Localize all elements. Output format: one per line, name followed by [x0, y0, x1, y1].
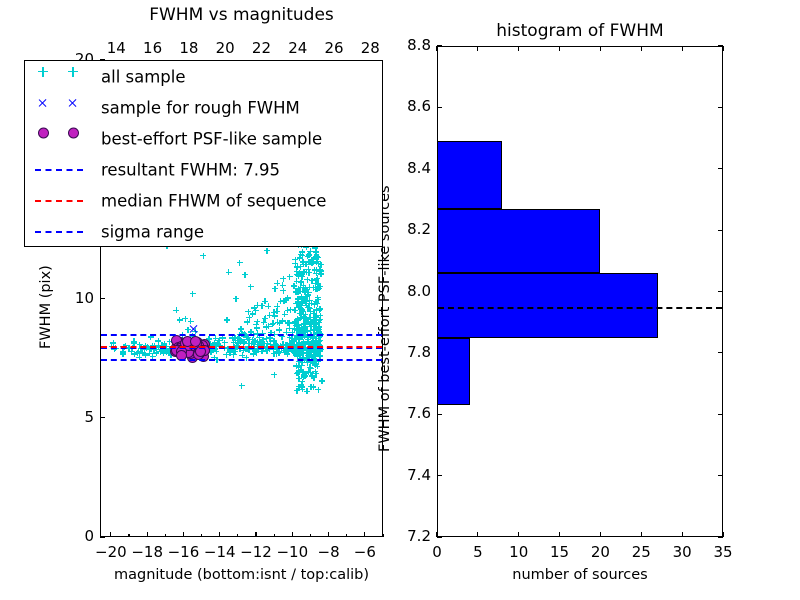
- scatter-point-all: [298, 352, 304, 358]
- scatter-point-all: [312, 350, 318, 356]
- scatter-point-all: [313, 277, 319, 283]
- scatter-point-all: [313, 286, 319, 292]
- scatter-point-all: [173, 307, 179, 313]
- scatter-point-all: [306, 289, 312, 295]
- scatter-point-all: [311, 326, 317, 332]
- scatter-point-all: [314, 336, 320, 342]
- scatter-point-all: [288, 307, 294, 313]
- scatter-point-all: [297, 310, 303, 316]
- scatter-point-all: [315, 261, 321, 267]
- scatter-top-xticklabel: 16: [135, 39, 171, 57]
- scatter-point-all: [307, 308, 313, 314]
- scatter-top-xticklabel: 28: [352, 39, 388, 57]
- scatter-point-all: [310, 338, 316, 344]
- scatter-point-all: [237, 338, 243, 344]
- histogram-xtick: [518, 532, 519, 537]
- histogram-ytick-right: [718, 414, 723, 415]
- histogram-xticklabel: 0: [417, 543, 457, 561]
- scatter-point-all: [304, 388, 310, 394]
- histogram-ytick: [437, 536, 442, 537]
- scatter-yticklabel: 5: [58, 408, 94, 426]
- scatter-point-all: [188, 318, 194, 324]
- scatter-point-all: [305, 369, 311, 375]
- scatter-point-all: [313, 317, 319, 323]
- scatter-top-xticklabel: 24: [280, 39, 316, 57]
- scatter-point-all: [227, 350, 233, 356]
- histogram-xticklabel: 35: [703, 543, 743, 561]
- scatter-point-all: [295, 317, 301, 323]
- scatter-point-all: [315, 297, 321, 303]
- scatter-point-all: [120, 349, 126, 355]
- scatter-point-all: [294, 324, 300, 330]
- scatter-point-all: [286, 325, 292, 331]
- scatter-point-all: [276, 327, 282, 333]
- legend-box: all samplesample for rough FWHMbest-effo…: [24, 60, 383, 247]
- scatter-point-all: [295, 316, 301, 322]
- scatter-point-all: [318, 271, 324, 277]
- scatter-point-all: [298, 280, 304, 286]
- scatter-top-xticklabel: 22: [243, 39, 279, 57]
- legend-item-label: all sample: [101, 67, 186, 86]
- scatter-point-all: [313, 325, 319, 331]
- scatter-point-all: [310, 335, 316, 341]
- scatter-point-all: [307, 365, 313, 371]
- scatter-point-all: [311, 256, 317, 262]
- scatter-point-all: [301, 374, 307, 380]
- scatter-point-all: [250, 311, 256, 317]
- scatter-point-all: [305, 319, 311, 325]
- scatter-point-all: [299, 253, 305, 259]
- scatter-point-all: [293, 323, 299, 329]
- scatter-point-all: [274, 351, 280, 357]
- scatter-point-all: [302, 285, 308, 291]
- scatter-point-all: [285, 295, 291, 301]
- scatter-point-all: [234, 336, 240, 342]
- scatter-point-all: [316, 338, 322, 344]
- scatter-point-all: [297, 270, 303, 276]
- scatter-point-all: [289, 335, 295, 341]
- scatter-point-all: [296, 304, 302, 310]
- scatter-point-all: [283, 349, 289, 355]
- scatter-point-all: [300, 308, 306, 314]
- scatter-point-all: [253, 307, 259, 313]
- histogram-ytick: [437, 45, 442, 46]
- scatter-point-all: [312, 353, 318, 359]
- scatter-point-all: [223, 352, 229, 358]
- scatter-point-all: [315, 281, 321, 287]
- scatter-point-all: [312, 302, 318, 308]
- scatter-point-all: [315, 295, 321, 301]
- scatter-point-all: [263, 324, 269, 330]
- histogram-bar: [437, 209, 600, 273]
- scatter-point-all: [246, 315, 252, 321]
- scatter-point-all: [128, 349, 134, 355]
- scatter-point-all: [292, 320, 298, 326]
- scatter-point-all: [314, 259, 320, 265]
- scatter-point-all: [316, 319, 322, 325]
- scatter-point-all: [182, 316, 188, 322]
- histogram-ytick: [437, 414, 442, 415]
- scatter-point-all: [153, 350, 159, 356]
- scatter-point-all: [308, 300, 314, 306]
- scatter-point-all: [252, 338, 258, 344]
- histogram-bar: [437, 338, 470, 406]
- scatter-point-all: [317, 317, 323, 323]
- scatter-point-all: [307, 353, 313, 359]
- scatter-point-all: [155, 338, 161, 344]
- scatter-point-all: [305, 292, 311, 298]
- dashed-line-icon: [35, 200, 83, 202]
- scatter-point-all: [307, 364, 313, 370]
- legend-item-label: sigma range: [101, 223, 204, 242]
- scatter-point-all: [274, 308, 280, 314]
- scatter-point-all: [298, 271, 304, 277]
- scatter-point-all: [275, 349, 281, 355]
- scatter-point-all: [260, 337, 266, 343]
- legend-item[interactable]: best-effort PSF-like sample: [25, 123, 382, 154]
- scatter-point-all: [313, 307, 319, 313]
- scatter-point-all: [253, 350, 259, 356]
- scatter-point-all: [293, 289, 299, 295]
- scatter-point-all: [314, 363, 320, 369]
- histogram-top-xtick: [436, 46, 437, 51]
- scatter-point-all: [317, 353, 323, 359]
- scatter-point-all: [310, 259, 316, 265]
- scatter-point-all: [177, 317, 183, 323]
- scatter-point-all: [302, 287, 308, 293]
- scatter-point-all: [301, 261, 307, 267]
- scatter-point-all: [254, 339, 260, 345]
- legend-item[interactable]: sigma range: [25, 217, 382, 248]
- scatter-point-all: [293, 336, 299, 342]
- histogram-xlabel: number of sources: [437, 567, 723, 583]
- histogram-title: histogram of FWHM: [397, 21, 763, 41]
- scatter-point-all: [232, 337, 238, 343]
- scatter-ylabel: FWHM (pix): [38, 265, 54, 349]
- scatter-point-all: [258, 339, 264, 345]
- scatter-point-all: [301, 269, 307, 275]
- scatter-point-all: [292, 261, 298, 267]
- scatter-point-all: [143, 352, 149, 358]
- scatter-point-all: [294, 278, 300, 284]
- scatter-point-all: [310, 384, 316, 390]
- histogram-xtick: [600, 532, 601, 537]
- scatter-point-all: [299, 299, 305, 305]
- scatter-point-all: [233, 296, 239, 302]
- scatter-point-all: [309, 300, 315, 306]
- legend-item-label: resultant FWHM: 7.95: [101, 161, 280, 180]
- scatter-point-all: [309, 319, 315, 325]
- histogram-refline: [438, 307, 722, 309]
- scatter-point-all: [319, 378, 325, 384]
- scatter-point-all: [254, 325, 260, 331]
- scatter-point-all: [271, 372, 277, 378]
- scatter-point-all: [316, 324, 322, 330]
- histogram-top-xtick: [518, 46, 519, 51]
- scatter-point-all: [265, 303, 271, 309]
- scatter-point-all: [315, 350, 321, 356]
- scatter-point-all: [307, 321, 313, 327]
- histogram-yticklabel: 7.6: [389, 404, 431, 422]
- legend-item[interactable]: resultant FWHM: 7.95: [25, 155, 382, 186]
- scatter-point-all: [280, 282, 286, 288]
- scatter-point-all: [294, 264, 300, 270]
- scatter-point-all: [311, 320, 317, 326]
- scatter-point-all: [236, 335, 242, 341]
- dashed-line-icon: [35, 169, 83, 171]
- scatter-point-all: [299, 249, 305, 255]
- scatter-point-all: [237, 339, 243, 345]
- scatter-point-all: [314, 280, 320, 286]
- scatter-point-all: [308, 351, 314, 357]
- scatter-point-all: [302, 321, 308, 327]
- legend-item-label: sample for rough FWHM: [101, 98, 300, 117]
- scatter-point-all: [283, 297, 289, 303]
- dashdot-line-icon: [35, 231, 83, 233]
- scatter-point-all: [120, 351, 126, 357]
- scatter-point-all: [309, 260, 315, 266]
- scatter-point-all: [295, 316, 301, 322]
- scatter-point-all: [313, 249, 319, 255]
- scatter-point-all: [284, 351, 290, 357]
- legend-item[interactable]: sample for rough FWHM: [25, 92, 382, 123]
- scatter-point-all: [277, 350, 283, 356]
- scatter-point-all: [307, 297, 313, 303]
- scatter-point-all: [303, 261, 309, 267]
- scatter-point-all: [292, 257, 298, 263]
- scatter-point-all: [289, 338, 295, 344]
- scatter-point-all: [296, 302, 302, 308]
- scatter-point-all: [296, 376, 302, 382]
- scatter-point-all: [299, 363, 305, 369]
- scatter-point-all: [295, 273, 301, 279]
- scatter-point-all: [303, 318, 309, 324]
- scatter-top-xticklabel: 26: [316, 39, 352, 57]
- scatter-point-all: [296, 336, 302, 342]
- histogram-top-xtick: [682, 46, 683, 51]
- scatter-point-all: [311, 311, 317, 317]
- scatter-point-all: [267, 335, 273, 341]
- scatter-point-all: [311, 318, 317, 324]
- scatter-point-all: [299, 307, 305, 313]
- scatter-point-all: [309, 373, 315, 379]
- scatter-point-all: [291, 350, 297, 356]
- scatter-point-all: [216, 338, 222, 344]
- scatter-point-all: [306, 259, 312, 265]
- scatter-point-all: [317, 313, 323, 319]
- scatter-point-all: [298, 303, 304, 309]
- scatter-point-all: [304, 350, 310, 356]
- scatter-point-all: [293, 301, 299, 307]
- scatter-point-all: [302, 373, 308, 379]
- histogram-ytick-right: [718, 475, 723, 476]
- histogram-top-xtick: [559, 46, 560, 51]
- scatter-point-all: [301, 296, 307, 302]
- histogram-yticklabel: 8.4: [389, 159, 431, 177]
- scatter-refline-sigma-range-lower: [101, 359, 382, 361]
- legend-item[interactable]: median FHWM of sequence: [25, 186, 382, 217]
- histogram-yticklabel: 8.6: [389, 97, 431, 115]
- scatter-point-all: [302, 371, 308, 377]
- scatter-point-all: [300, 314, 306, 320]
- scatter-point-all: [315, 258, 321, 264]
- scatter-point-all: [302, 297, 308, 303]
- scatter-point-all: [307, 324, 313, 330]
- scatter-point-all: [315, 327, 321, 333]
- scatter-point-all: [271, 338, 277, 344]
- scatter-point-all: [249, 337, 255, 343]
- scatter-point-all: [238, 326, 244, 332]
- scatter-point-all: [299, 327, 305, 333]
- scatter-point-all: [307, 352, 313, 358]
- scatter-point-all: [278, 298, 284, 304]
- scatter-point-all: [271, 309, 277, 315]
- scatter-point-all: [297, 255, 303, 261]
- scatter-point-all: [295, 299, 301, 305]
- scatter-point-all: [303, 269, 309, 275]
- scatter-point-all: [302, 325, 308, 331]
- scatter-point-all: [263, 336, 269, 342]
- scatter-point-all: [164, 349, 170, 355]
- scatter-point-all: [313, 250, 319, 256]
- scatter-top-xticklabel: 14: [98, 39, 134, 57]
- scatter-point-all: [317, 268, 323, 274]
- scatter-point-all: [266, 323, 272, 329]
- scatter-point-all: [306, 252, 312, 258]
- scatter-point-all: [313, 299, 319, 305]
- scatter-point-all: [287, 274, 293, 280]
- scatter-point-all: [314, 275, 320, 281]
- scatter-point-all: [271, 351, 277, 357]
- scatter-point-all: [231, 352, 237, 358]
- scatter-point-all: [303, 350, 309, 356]
- scatter-point-all: [293, 363, 299, 369]
- scatter-point-all: [287, 335, 293, 341]
- scatter-point-all: [295, 289, 301, 295]
- scatter-point-all: [294, 351, 300, 357]
- scatter-point-all: [300, 350, 306, 356]
- scatter-xtick-minor: [382, 534, 383, 537]
- scatter-point-all: [157, 349, 163, 355]
- scatter-point-all: [304, 277, 310, 283]
- scatter-point-all: [307, 306, 313, 312]
- scatter-point-all: [307, 308, 313, 314]
- scatter-point-all: [318, 268, 324, 274]
- histogram-ytick: [437, 475, 442, 476]
- scatter-point-all: [295, 286, 301, 292]
- scatter-point-all: [302, 288, 308, 294]
- scatter-point-all: [300, 283, 306, 289]
- histogram-yticklabel: 7.2: [389, 527, 431, 545]
- scatter-point-all: [239, 383, 245, 389]
- scatter-point-all: [319, 378, 325, 384]
- scatter-point-all: [139, 350, 145, 356]
- scatter-point-all: [274, 303, 280, 309]
- scatter-point-all: [315, 325, 321, 331]
- scatter-point-all: [314, 254, 320, 260]
- scatter-point-all: [241, 339, 247, 345]
- scatter-point-all: [299, 386, 305, 392]
- histogram-xtick: [641, 532, 642, 537]
- scatter-point-all: [261, 319, 267, 325]
- scatter-point-all: [316, 307, 322, 313]
- scatter-point-all: [232, 335, 238, 341]
- scatter-point-all: [315, 387, 321, 393]
- scatter-title: FWHM vs magnitudes: [40, 5, 443, 25]
- scatter-point-all: [131, 338, 137, 344]
- scatter-point-all: [300, 350, 306, 356]
- scatter-point-all: [297, 349, 303, 355]
- scatter-point-all: [282, 311, 288, 317]
- scatter-point-all: [305, 337, 311, 343]
- legend-item[interactable]: all sample: [25, 61, 382, 92]
- scatter-point-all: [296, 303, 302, 309]
- scatter-point-all: [302, 312, 308, 318]
- plus-icon: [38, 67, 48, 77]
- scatter-point-all: [291, 283, 297, 289]
- scatter-point-all: [262, 315, 268, 321]
- scatter-point-all: [237, 260, 243, 266]
- scatter-point-all: [317, 266, 323, 272]
- histogram-xticklabel: 20: [580, 543, 620, 561]
- scatter-point-all: [300, 314, 306, 320]
- scatter-point-all: [298, 284, 304, 290]
- scatter-point-all: [246, 337, 252, 343]
- scatter-point-all: [292, 307, 298, 313]
- scatter-point-all: [316, 285, 322, 291]
- scatter-point-all: [301, 325, 307, 331]
- histogram-yticklabel: 8.8: [389, 36, 431, 54]
- scatter-point-all: [299, 349, 305, 355]
- scatter-point-all: [302, 289, 308, 295]
- scatter-point-all: [307, 321, 313, 327]
- scatter-point-all: [306, 270, 312, 276]
- scatter-point-all: [238, 337, 244, 343]
- scatter-point-all: [313, 314, 319, 320]
- histogram-xticklabel: 25: [621, 543, 661, 561]
- scatter-point-all: [302, 287, 308, 293]
- scatter-point-all: [301, 316, 307, 322]
- scatter-point-all: [275, 350, 281, 356]
- scatter-point-all: [310, 285, 316, 291]
- scatter-point-all: [298, 367, 304, 373]
- histogram-ytick: [437, 107, 442, 108]
- histogram-xtick: [477, 532, 478, 537]
- histogram-top-xtick: [641, 46, 642, 51]
- scatter-point-all: [312, 267, 318, 273]
- scatter-point-all: [293, 289, 299, 295]
- scatter-point-all: [309, 372, 315, 378]
- scatter-point-all: [318, 268, 324, 274]
- scatter-point-all: [277, 320, 283, 326]
- scatter-point-all: [308, 370, 314, 376]
- scatter-point-all: [318, 262, 324, 268]
- scatter-point-all: [274, 280, 280, 286]
- histogram-top-xtick: [477, 46, 478, 51]
- scatter-point-all: [313, 280, 319, 286]
- histogram-ytick-right: [718, 107, 723, 108]
- scatter-point-all: [306, 284, 312, 290]
- scatter-point-all: [226, 269, 232, 275]
- scatter-point-all: [301, 321, 307, 327]
- histogram-ytick-right: [718, 168, 723, 169]
- scatter-point-all: [251, 305, 257, 311]
- scatter-xticklabel: −6: [343, 543, 387, 561]
- cross-icon: [38, 98, 48, 108]
- histogram-top-xtick: [722, 46, 723, 51]
- scatter-point-all: [294, 370, 300, 376]
- scatter-point-all: [307, 318, 313, 324]
